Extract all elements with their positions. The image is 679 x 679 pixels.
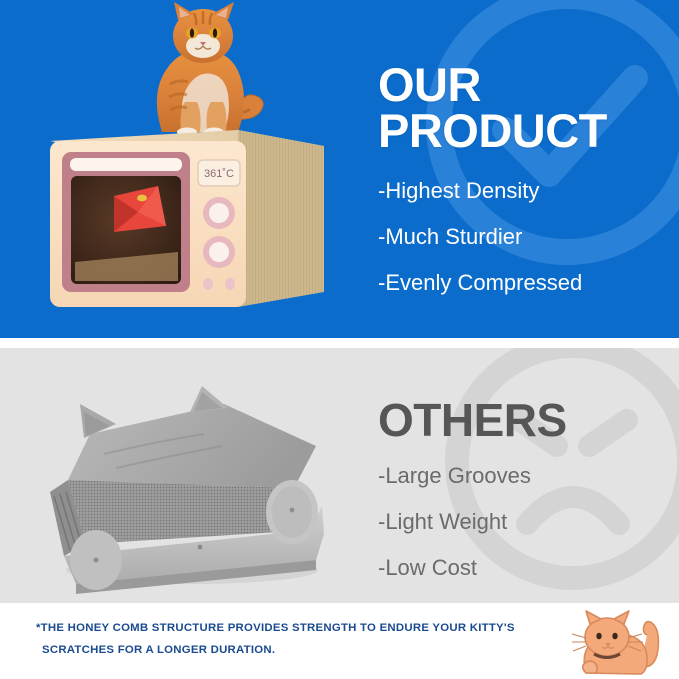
- our-product-feature-list: -Highest Density -Much Sturdier -Evenly …: [378, 180, 607, 294]
- list-item: -Much Sturdier: [378, 226, 607, 248]
- tabby-cat-photo: [157, 2, 263, 137]
- microwave-display-value: 361˚C: [204, 168, 234, 180]
- others-feature-list: -Large Grooves -Light Weight -Low Cost: [378, 465, 567, 579]
- our-product-heading: OUR PRODUCT: [378, 62, 607, 154]
- footer-note-line1: *THE HONEY COMB STRUCTURE PROVIDES STREN…: [36, 622, 515, 634]
- our-product-text-block: OUR PRODUCT -Highest Density -Much Sturd…: [378, 62, 607, 318]
- footer-note-line2: SCRATCHES FOR A LONGER DURATION.: [36, 639, 541, 661]
- our-product-heading-line2: PRODUCT: [378, 108, 607, 154]
- footer-bar: *THE HONEY COMB STRUCTURE PROVIDES STREN…: [0, 603, 679, 679]
- microwave-cat-house: 361˚C: [50, 130, 324, 307]
- list-item: -Low Cost: [378, 557, 567, 579]
- list-item: -Highest Density: [378, 180, 607, 202]
- others-panel: OTHERS -Large Grooves -Light Weight -Low…: [0, 348, 679, 603]
- our-product-panel: 361˚C OUR PRODUCT -Highest Density -Much…: [0, 0, 679, 338]
- orange-cat-mascot-icon: [566, 607, 674, 679]
- others-product-photo: [24, 384, 354, 594]
- our-product-heading-line1: OUR: [378, 62, 607, 108]
- list-item: -Light Weight: [378, 511, 567, 533]
- our-product-photo: 361˚C: [42, 0, 352, 330]
- others-heading: OTHERS: [378, 398, 567, 443]
- list-item: -Large Grooves: [378, 465, 567, 487]
- others-text-block: OTHERS -Large Grooves -Light Weight -Low…: [378, 398, 567, 603]
- footer-note: *THE HONEY COMB STRUCTURE PROVIDES STREN…: [36, 617, 541, 661]
- list-item: -Evenly Compressed: [378, 272, 607, 294]
